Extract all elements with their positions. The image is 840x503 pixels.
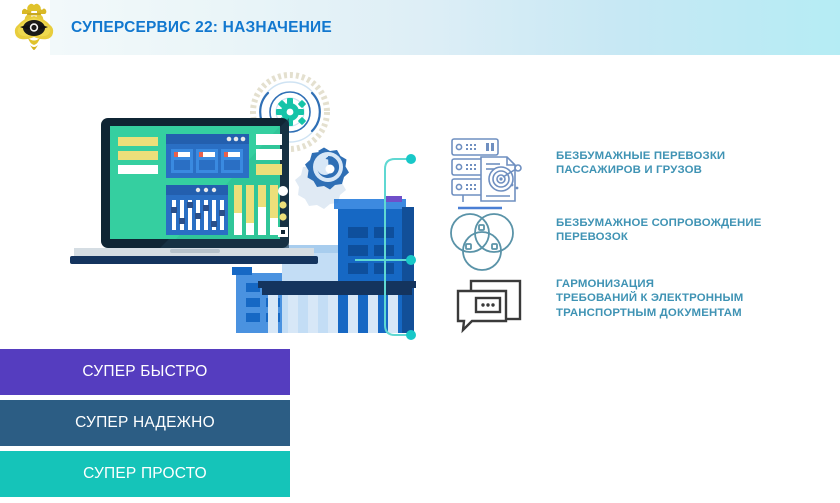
illustration-area xyxy=(0,55,840,345)
laptop-with-dashboard xyxy=(70,118,318,264)
banner-super-simple[interactable]: СУПЕР ПРОСТО xyxy=(0,451,290,497)
three-circles-venn-icon xyxy=(451,208,513,270)
connector-dot-2 xyxy=(406,255,416,265)
chat-bubbles-icon xyxy=(458,281,520,330)
banner-super-reliable-label: СУПЕР НАДЕЖНО xyxy=(75,414,215,432)
connector-dot-1 xyxy=(406,154,416,164)
banner-super-fast[interactable]: СУПЕР БЫСТРО xyxy=(0,349,290,395)
server-rack-document-icon xyxy=(452,139,521,202)
banner-super-reliable[interactable]: СУПЕР НАДЕЖНО xyxy=(0,400,290,446)
russian-coat-of-arms-emblem xyxy=(8,2,60,54)
page-title: СУПЕРСЕРВИС 22: НАЗНАЧЕНИЕ xyxy=(71,19,332,37)
banner-super-fast-label: СУПЕР БЫСТРО xyxy=(82,363,207,381)
banner-super-simple-label: СУПЕР ПРОСТО xyxy=(83,465,207,483)
connector-dot-3 xyxy=(406,330,416,340)
